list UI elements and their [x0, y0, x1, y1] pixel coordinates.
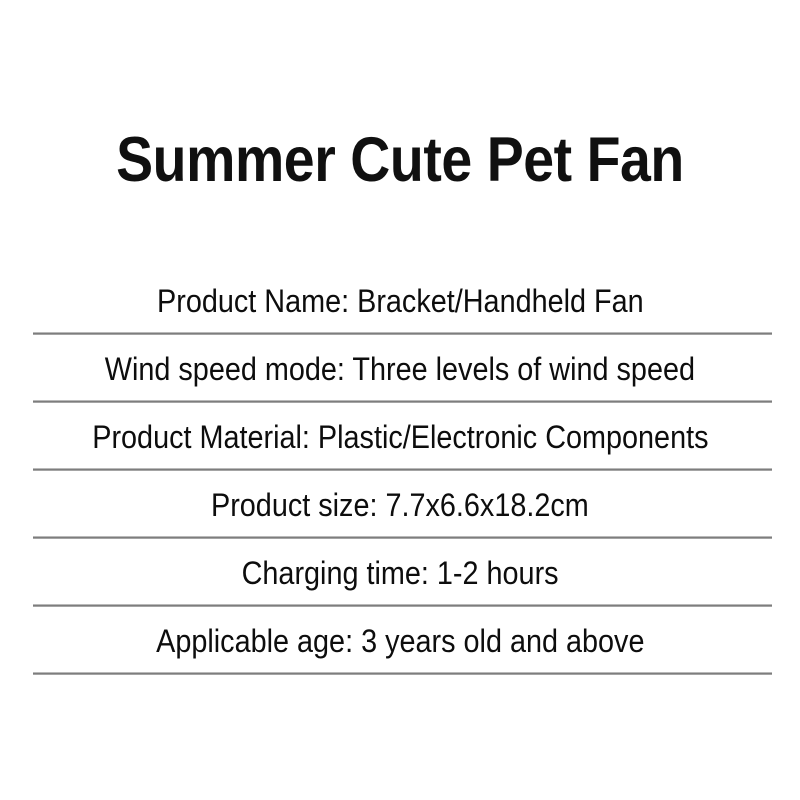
- table-row: Wind speed mode: Three levels of wind sp…: [0, 335, 800, 403]
- spec-row-text-product-size: Product size: 7.7x6.6x18.2cm: [211, 487, 589, 523]
- table-row: Product Material: Plastic/Electronic Com…: [0, 403, 800, 471]
- row-divider: [33, 672, 772, 675]
- page-title: Summer Cute Pet Fan: [48, 126, 752, 194]
- table-row: Charging time: 1-2 hours: [0, 539, 800, 607]
- product-spec-card: Summer Cute Pet Fan Product Name: Bracke…: [0, 0, 800, 800]
- table-row: Applicable age: 3 years old and above: [0, 607, 800, 675]
- table-row: Product size: 7.7x6.6x18.2cm: [0, 471, 800, 539]
- spec-row-text-applicable-age: Applicable age: 3 years old and above: [156, 623, 644, 659]
- spec-table: Product Name: Bracket/Handheld Fan Wind …: [0, 267, 800, 675]
- spec-row-text-product-material: Product Material: Plastic/Electronic Com…: [92, 419, 708, 455]
- spec-row-text-wind-speed-mode: Wind speed mode: Three levels of wind sp…: [105, 351, 695, 387]
- table-row: Product Name: Bracket/Handheld Fan: [0, 267, 800, 335]
- spec-row-text-charging-time: Charging time: 1-2 hours: [242, 555, 559, 591]
- spec-row-text-product-name: Product Name: Bracket/Handheld Fan: [157, 283, 644, 319]
